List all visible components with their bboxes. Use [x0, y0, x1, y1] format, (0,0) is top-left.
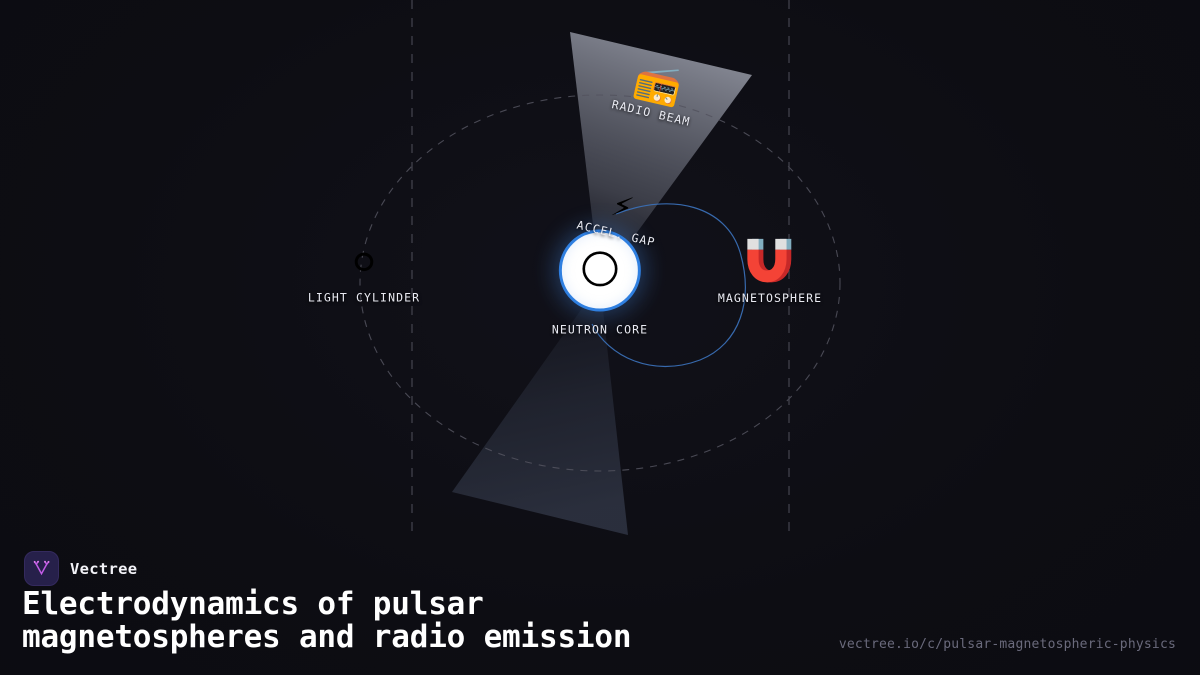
vectree-logo-icon	[24, 551, 59, 586]
magnet-icon: 🧲	[750, 209, 790, 313]
brand: Vectree	[24, 551, 137, 586]
node-light-cylinder: ⚪ LIGHT CYLINDER	[308, 244, 420, 305]
node-magnetosphere: 🧲 MAGNETOSPHERE	[718, 241, 822, 305]
gray-circle-icon: ⚪	[308, 244, 420, 284]
screenshot-root: ⚪ LIGHT CYLINDER 🌕 NEUTRON CORE 🧲 MAGNET…	[0, 0, 1200, 675]
node-neutron-core: 🌕 NEUTRON CORE	[552, 230, 648, 337]
node-neutron-core-label: NEUTRON CORE	[552, 323, 648, 337]
node-light-cylinder-label: LIGHT CYLINDER	[308, 291, 420, 305]
brand-name: Vectree	[70, 560, 137, 578]
page-title: Electrodynamics of pulsar magnetospheres…	[22, 588, 812, 654]
footer-url: vectree.io/c/pulsar-magnetospheric-physi…	[839, 637, 1176, 652]
footer: Vectree Electrodynamics of pulsar magnet…	[0, 540, 1200, 675]
pulsar-diagram: ⚪ LIGHT CYLINDER 🌕 NEUTRON CORE 🧲 MAGNET…	[0, 0, 1200, 540]
full-moon-icon: 🌕	[579, 251, 621, 291]
